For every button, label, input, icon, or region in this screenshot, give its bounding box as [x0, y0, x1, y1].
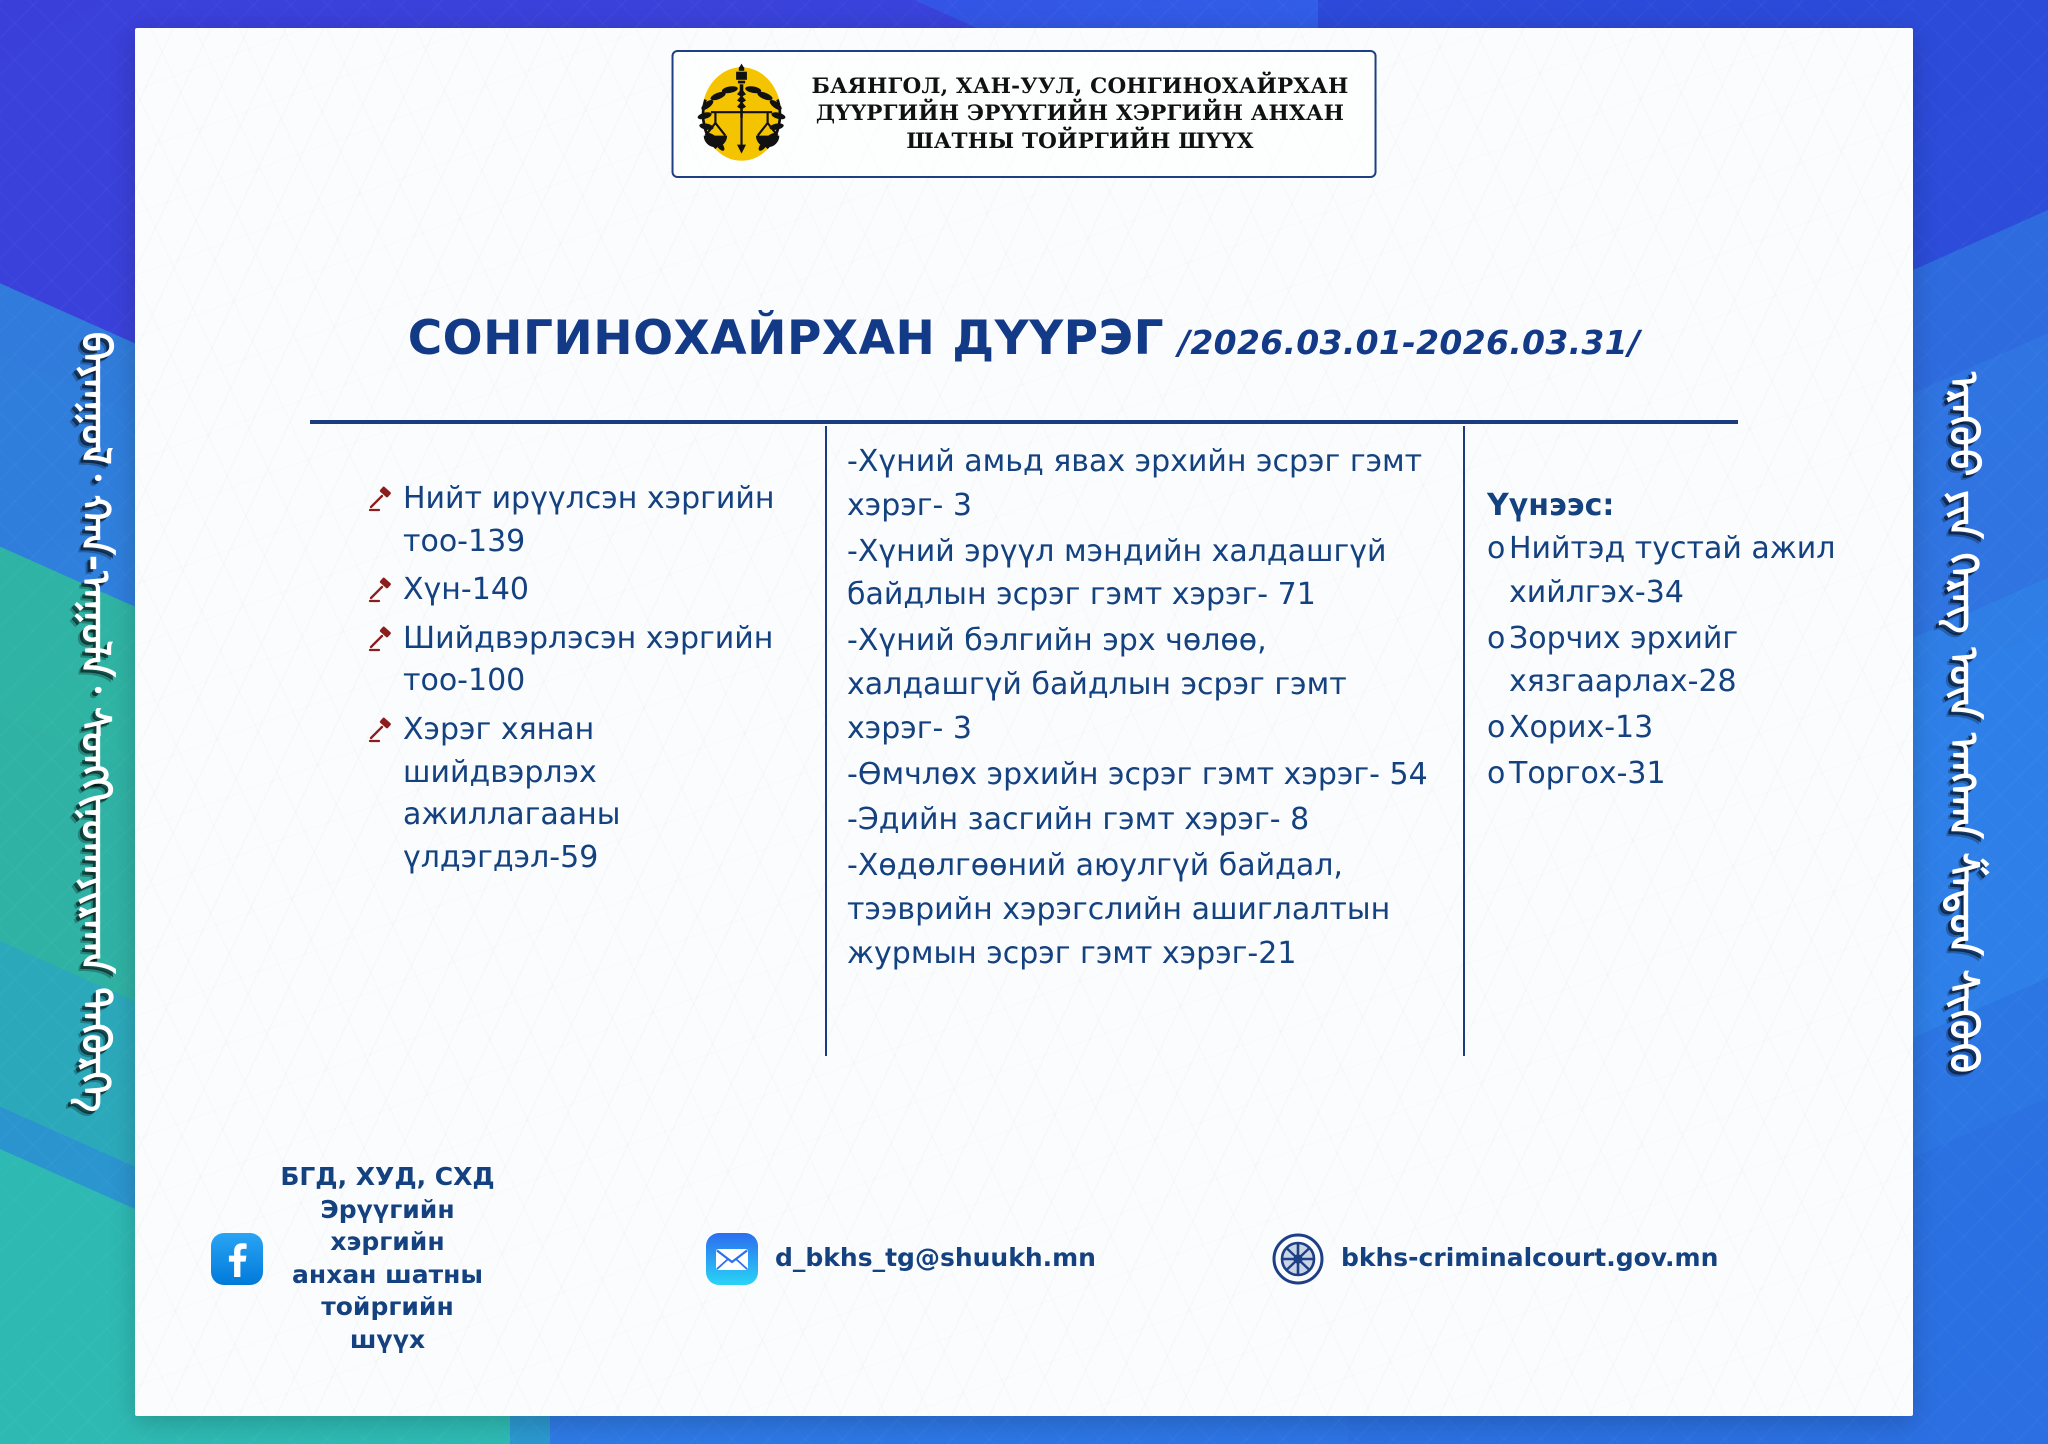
list-item: oНийтэд тустай ажил хийлгэх-34	[1487, 527, 1887, 615]
report-period: /2026.03.01-2026.03.31/	[1178, 323, 1640, 362]
list-item: Нийт ирүүлсэн хэргийн тоо-139	[367, 478, 797, 563]
email-address: d_bkhs_tg@shuukh.mn	[775, 1242, 1096, 1275]
list-item: oЗорчих эрхийг хязгаарлах-28	[1487, 617, 1887, 705]
crime-category-line: -Хүний бэлгийн эрх чөлөө, халдашгүй байд…	[847, 619, 1447, 750]
crime-category-line: -Хүний амьд явах эрхийн эсрэг гэмт хэрэг…	[847, 440, 1447, 528]
facebook-label-line2: анхан шатны тойргийн шүүх	[292, 1260, 483, 1354]
website-contact[interactable]: bkhs-criminalcourt.gov.mn	[1271, 1232, 1718, 1286]
summary-item-label: Хэрэг хянан шийдвэрлэх ажиллагааны үлдэг…	[403, 709, 797, 879]
email-icon[interactable]	[705, 1232, 759, 1286]
facebook-contact[interactable]: БГД, ХУД, СХД Эрүүгийн хэргийн анхан шат…	[210, 1161, 495, 1356]
page-title: СОНГИНОХАЙРХАН ДҮҮРЭГ/2026.03.01-2026.03…	[135, 311, 1913, 366]
content-card: БАЯНГОЛ, ХАН-УУЛ, СОНГИНОХАЙРХАН ДҮҮРГИЙ…	[135, 28, 1913, 1416]
list-item: Хэрэг хянан шийдвэрлэх ажиллагааны үлдэг…	[367, 709, 797, 879]
mongolian-script-right-text: ᠡᠷᠡᠭᠦᠦ ᠶᠢᠨ ᠬᠡᠷᠡᠭ ᠦᠨ ᠠᠩᠬᠠᠨ ᠱᠠᠲᠤᠨ ᠰᠢᠭᠦᠬᠦ	[1942, 372, 1984, 1073]
summary-item-label: Нийт ирүүлсэн хэргийн тоо-139	[403, 478, 797, 563]
penalties-column: Үүнээс: oНийтэд тустай ажил хийлгэх-34 o…	[1487, 488, 1887, 798]
crime-category-line: -Өмчлөх эрхийн эсрэг гэмт хэрэг- 54	[847, 753, 1447, 797]
crime-category-line: -Хүний эрүүл мэндийн халдашгүй байдлын э…	[847, 530, 1447, 618]
mongolian-script-left-text: ᠪᠠᠶᠠᠨᠭᠤᠯ᠂ ᠬᠠᠨ-ᠠᠭᠤᠯᠠ᠂ ᠰᠣᠩᠭᠢᠨᠣᠬᠠᠶᠢᠷᠬᠠᠨ ᠳᠡᠭ…	[74, 332, 116, 1112]
facebook-icon[interactable]	[210, 1232, 264, 1286]
court-header: БАЯНГОЛ, ХАН-УУЛ, СОНГИНОХАЙРХАН ДҮҮРГИЙ…	[672, 50, 1377, 178]
gavel-icon	[367, 486, 393, 512]
column-divider-right	[1463, 426, 1465, 1056]
circle-bullet-icon: o	[1487, 706, 1509, 750]
penalty-item-label: Хорих-13	[1509, 710, 1653, 745]
circle-bullet-icon: o	[1487, 527, 1509, 571]
crime-categories-column: -Хүний амьд явах эрхийн эсрэг гэмт хэрэг…	[847, 440, 1447, 978]
circle-bullet-icon: o	[1487, 617, 1509, 661]
list-item: oХорих-13	[1487, 706, 1887, 750]
list-item: Хүн-140	[367, 569, 797, 612]
footer: БГД, ХУД, СХД Эрүүгийн хэргийн анхан шат…	[135, 1161, 1913, 1356]
penalty-item-label: Торгох-31	[1509, 756, 1666, 791]
website-url: bkhs-criminalcourt.gov.mn	[1341, 1242, 1718, 1275]
facebook-label-line1: БГД, ХУД, СХД Эрүүгийн хэргийн	[280, 1162, 494, 1256]
email-contact[interactable]: d_bkhs_tg@shuukh.mn	[705, 1232, 1096, 1286]
court-title: БАЯНГОЛ, ХАН-УУЛ, СОНГИНОХАЙРХАН ДҮҮРГИЙ…	[812, 73, 1349, 154]
crime-category-line: -Хөдөлгөөний аюулгүй байдал, тээврийн хэ…	[847, 844, 1447, 975]
globe-icon[interactable]	[1271, 1232, 1325, 1286]
summary-column: Нийт ирүүлсэн хэргийн тоо-139 Хүн-140	[367, 478, 797, 885]
mongolian-court-emblem-icon	[688, 60, 796, 168]
poster-root: ᠪᠠᠶᠠᠨᠭᠤᠯ᠂ ᠬᠠᠨ-ᠠᠭᠤᠯᠠ᠂ ᠰᠣᠩᠭᠢᠨᠣᠬᠠᠶᠢᠷᠬᠠᠨ ᠳᠡᠭ…	[0, 0, 2048, 1444]
facebook-label: БГД, ХУД, СХД Эрүүгийн хэргийн анхан шат…	[280, 1161, 495, 1356]
summary-item-label: Шийдвэрлэсэн хэргийн тоо-100	[403, 618, 797, 703]
gavel-icon	[367, 626, 393, 652]
horizontal-divider	[310, 420, 1738, 424]
circle-bullet-icon: o	[1487, 752, 1509, 796]
crime-category-line: -Эдийн засгийн гэмт хэрэг- 8	[847, 798, 1447, 842]
penalty-item-label: Зорчих эрхийг хязгаарлах-28	[1509, 621, 1738, 700]
column-divider-left	[825, 426, 827, 1056]
summary-item-label: Хүн-140	[403, 569, 529, 612]
list-item: oТоргох-31	[1487, 752, 1887, 796]
gavel-icon	[367, 577, 393, 603]
gavel-icon	[367, 717, 393, 743]
penalties-title: Үүнээс:	[1487, 488, 1887, 523]
district-name: СОНГИНОХАЙРХАН ДҮҮРЭГ	[408, 311, 1164, 366]
list-item: Шийдвэрлэсэн хэргийн тоо-100	[367, 618, 797, 703]
penalty-item-label: Нийтэд тустай ажил хийлгэх-34	[1509, 531, 1835, 610]
